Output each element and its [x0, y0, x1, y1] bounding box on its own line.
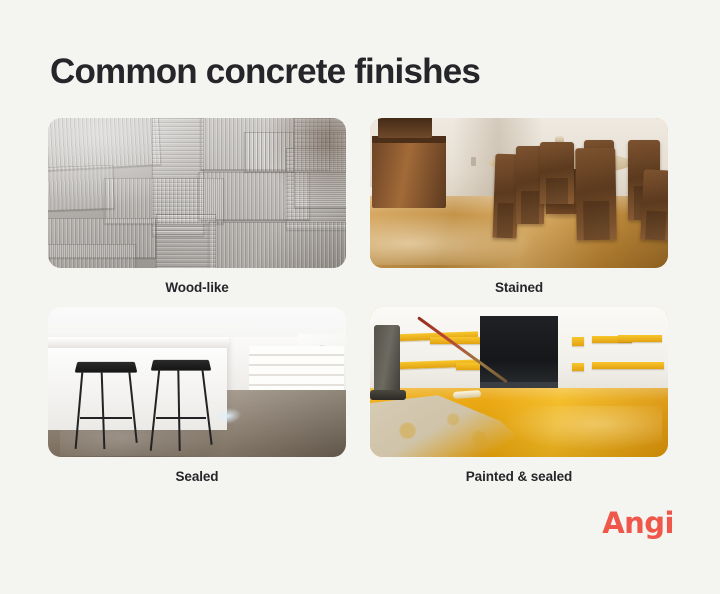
wall-outlet: [471, 157, 476, 166]
worker-leg: [374, 325, 400, 394]
wall-stripe: [592, 362, 664, 369]
dining-chair: [575, 148, 617, 241]
finish-photo-wood-like: [48, 118, 346, 268]
finish-label-sealed: Sealed: [48, 469, 346, 484]
finish-label-stained: Stained: [370, 280, 668, 295]
island-countertop: [48, 337, 229, 348]
finish-card-wood-like[interactable]: Wood-like: [48, 118, 346, 295]
wall-stripe: [572, 363, 584, 371]
finish-photo-sealed: [48, 307, 346, 457]
wood-highlight: [48, 118, 227, 208]
finish-card-painted-sealed[interactable]: Painted & sealed: [370, 307, 668, 484]
finish-photo-painted-sealed: [370, 307, 668, 457]
bar-stool: [76, 361, 136, 447]
dark-doorway: [480, 316, 557, 391]
finish-label-painted-sealed: Painted & sealed: [370, 469, 668, 484]
finishes-grid: Wood-like: [48, 118, 668, 484]
paint-splatter: [376, 400, 519, 451]
finish-card-stained[interactable]: Stained: [370, 118, 668, 295]
finish-card-sealed[interactable]: Sealed: [48, 307, 346, 484]
kitchen-drawers: [249, 346, 344, 394]
finish-label-wood-like: Wood-like: [48, 280, 346, 295]
cabinet-artwork: [378, 118, 432, 138]
epoxy-gloss: [501, 406, 662, 451]
worker-boot: [370, 390, 406, 400]
wood-cabinet: [372, 142, 446, 208]
wood-stain-patch: [266, 118, 346, 208]
angi-logo[interactable]: Angi: [602, 509, 674, 538]
finish-photo-stained: [370, 118, 668, 268]
infographic-canvas: Common concrete finishes: [0, 0, 720, 594]
dining-chair: [540, 142, 574, 204]
floor-light-reflection: [213, 408, 244, 424]
wall-stripe: [618, 335, 662, 342]
bar-stool: [152, 359, 210, 449]
wall-stripe: [572, 337, 584, 346]
page-title: Common concrete finishes: [50, 52, 480, 92]
dining-chair: [640, 169, 668, 240]
